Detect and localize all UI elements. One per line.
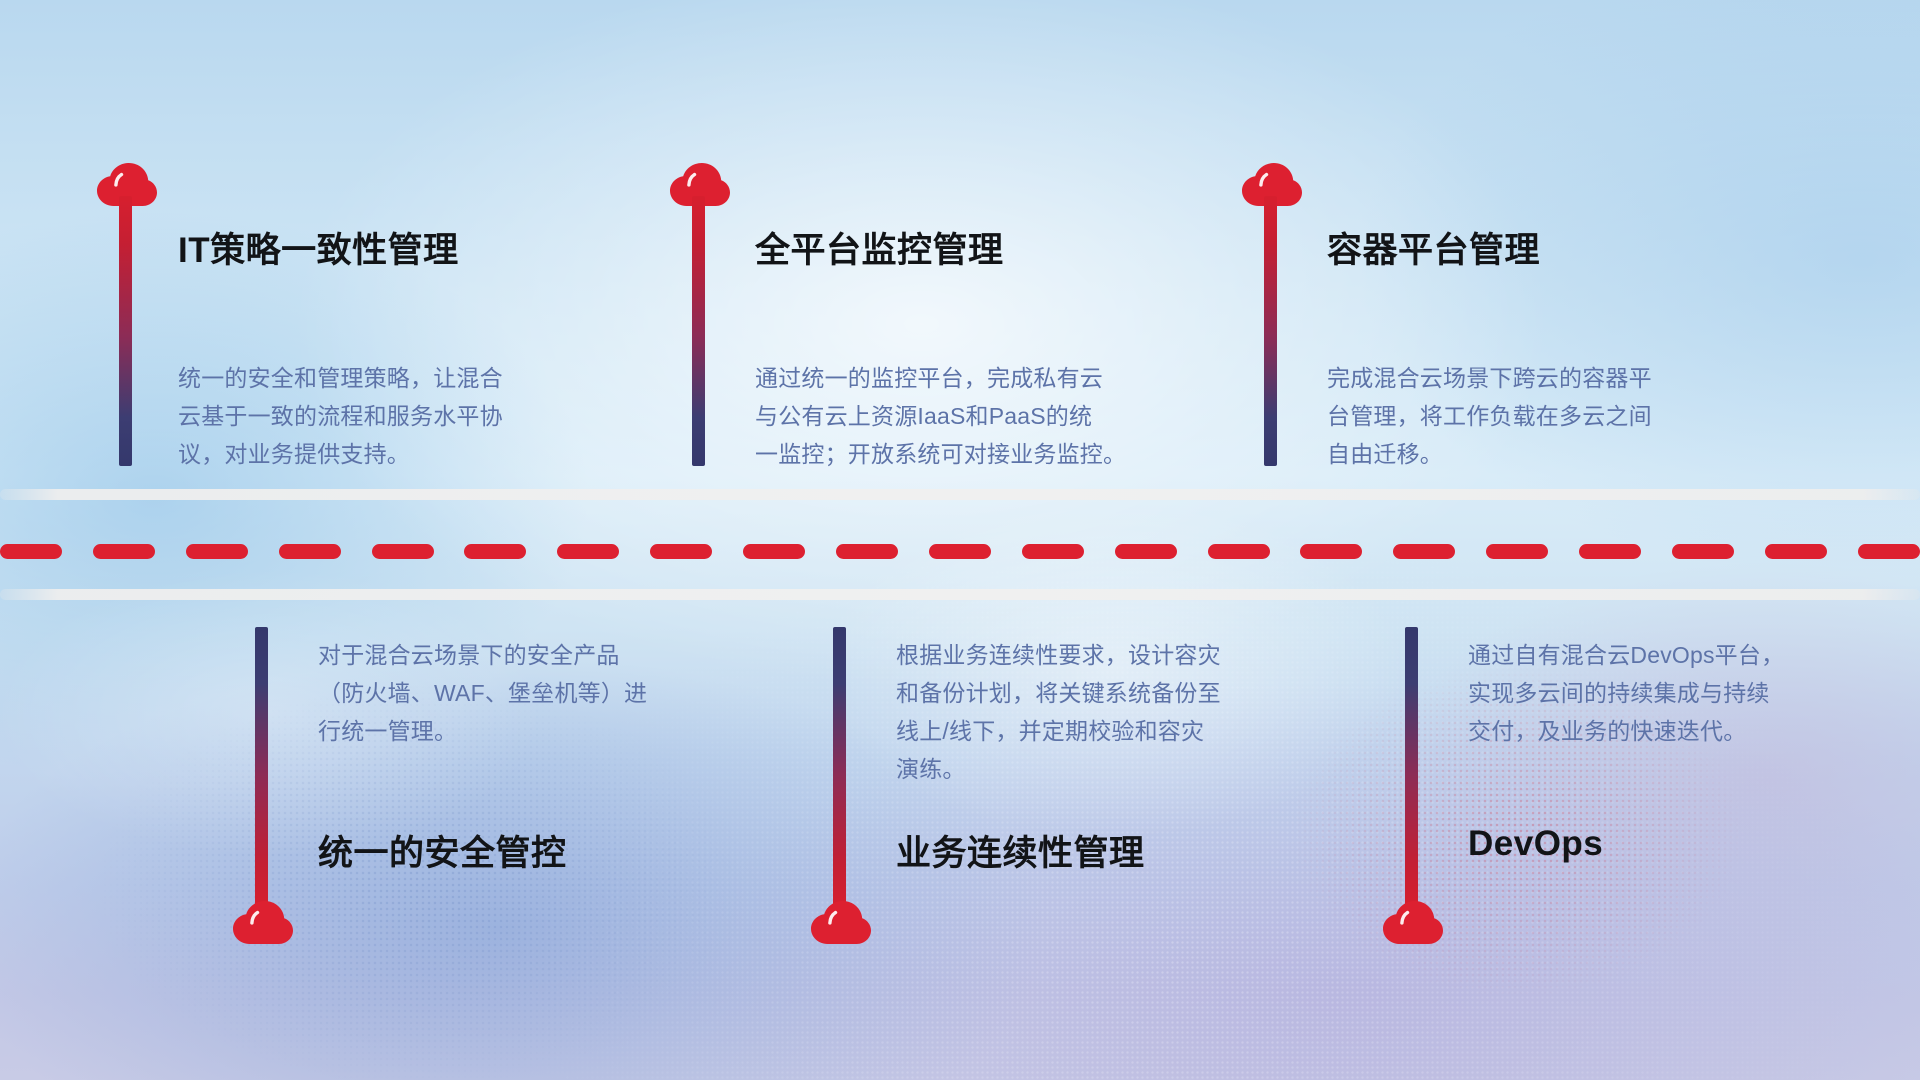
body-it-policy-consistency: 统一的安全和管理策略，让混合 云基于一致的流程和服务水平协 议，对业务提供支持。 <box>178 359 618 473</box>
road-dash <box>1858 544 1920 559</box>
marker-stem <box>1264 196 1277 466</box>
cloud-icon <box>809 898 871 946</box>
road-dash <box>0 544 62 559</box>
body-unified-security: 对于混合云场景下的安全产品 （防火墙、WAF、堡垒机等）进 行统一管理。 <box>318 636 758 750</box>
road-dash <box>1300 544 1362 559</box>
road-dash <box>1579 544 1641 559</box>
road-dash <box>929 544 991 559</box>
heading-unified-security: 统一的安全管控 <box>318 825 567 876</box>
body-business-continuity: 根据业务连续性要求，设计容灾 和备份计划，将关键系统备份至 线上/线下，并定期校… <box>896 636 1336 788</box>
body-line: 云基于一致的流程和服务水平协 <box>178 397 618 435</box>
road-dash <box>650 544 712 559</box>
body-line: 与公有云上资源IaaS和PaaS的统 <box>755 397 1215 435</box>
infographic-canvas: IT策略一致性管理 统一的安全和管理策略，让混合 云基于一致的流程和服务水平协 … <box>0 0 1920 1080</box>
road-dash <box>1022 544 1084 559</box>
road-dash <box>1672 544 1734 559</box>
body-line: 自由迁移。 <box>1327 435 1767 473</box>
marker-stem <box>119 196 132 466</box>
road-dash <box>1115 544 1177 559</box>
body-line: 行统一管理。 <box>318 712 758 750</box>
road-dash <box>372 544 434 559</box>
road-dashes <box>0 543 1920 559</box>
body-line: 一监控；开放系统可对接业务监控。 <box>755 435 1215 473</box>
road-dash <box>1393 544 1455 559</box>
body-line: 对于混合云场景下的安全产品 <box>318 636 758 674</box>
road-dash <box>1765 544 1827 559</box>
body-line: 统一的安全和管理策略，让混合 <box>178 359 618 397</box>
marker-stem <box>255 627 268 909</box>
body-line: 和备份计划，将关键系统备份至 <box>896 674 1336 712</box>
body-full-platform-monitoring: 通过统一的监控平台，完成私有云 与公有云上资源IaaS和PaaS的统 一监控；开… <box>755 359 1215 473</box>
body-line: （防火墙、WAF、堡垒机等）进 <box>318 674 758 712</box>
marker-stem <box>833 627 846 909</box>
heading-devops: DevOps <box>1468 824 1603 864</box>
body-line: 通过自有混合云DevOps平台， <box>1468 636 1908 674</box>
road-dash <box>279 544 341 559</box>
heading-full-platform-monitoring: 全平台监控管理 <box>755 222 1004 273</box>
road-dash <box>743 544 805 559</box>
body-line: 台管理，将工作负载在多云之间 <box>1327 397 1767 435</box>
body-line: 演练。 <box>896 750 1336 788</box>
road-dash <box>186 544 248 559</box>
cloud-icon <box>231 898 293 946</box>
body-line: 交付，及业务的快速迭代。 <box>1468 712 1908 750</box>
road-dash <box>1208 544 1270 559</box>
body-line: 完成混合云场景下跨云的容器平 <box>1327 359 1767 397</box>
body-line: 议，对业务提供支持。 <box>178 435 618 473</box>
body-line: 线上/线下，并定期校验和容灾 <box>896 712 1336 750</box>
heading-it-policy-consistency: IT策略一致性管理 <box>178 222 459 273</box>
road-rail-top <box>0 489 1920 500</box>
road-dash <box>836 544 898 559</box>
heading-container-platform: 容器平台管理 <box>1327 222 1540 273</box>
road-rail-bottom <box>0 589 1920 600</box>
marker-stem <box>692 196 705 466</box>
road-dash <box>464 544 526 559</box>
body-line: 实现多云间的持续集成与持续 <box>1468 674 1908 712</box>
body-devops: 通过自有混合云DevOps平台， 实现多云间的持续集成与持续 交付，及业务的快速… <box>1468 636 1908 750</box>
cloud-icon <box>1381 898 1443 946</box>
marker-stem <box>1405 627 1418 909</box>
body-line: 根据业务连续性要求，设计容灾 <box>896 636 1336 674</box>
road-dash <box>93 544 155 559</box>
body-line: 通过统一的监控平台，完成私有云 <box>755 359 1215 397</box>
heading-business-continuity: 业务连续性管理 <box>896 825 1145 876</box>
road-dash <box>557 544 619 559</box>
body-container-platform: 完成混合云场景下跨云的容器平 台管理，将工作负载在多云之间 自由迁移。 <box>1327 359 1767 473</box>
road-dash <box>1486 544 1548 559</box>
